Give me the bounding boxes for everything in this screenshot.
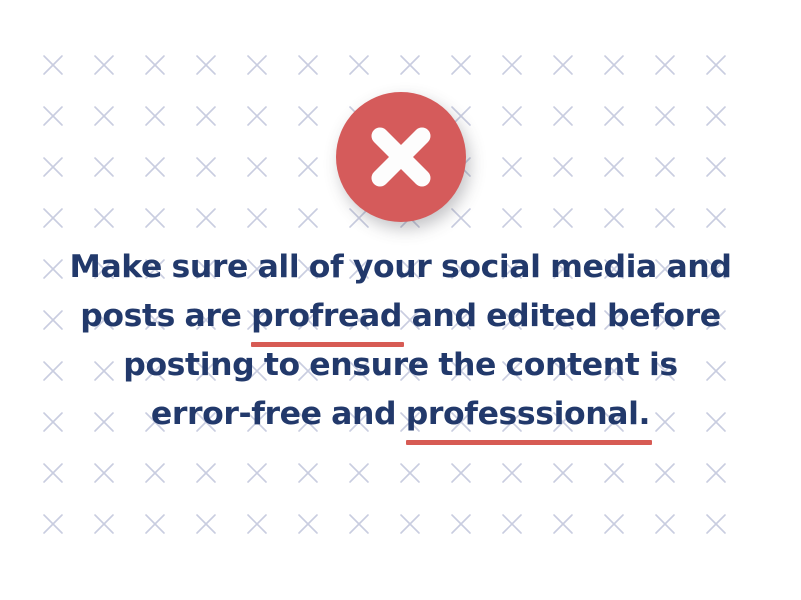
message-line-1: Make sure all of your social media and bbox=[0, 243, 801, 292]
message-line-2: posts are profread and edited before bbox=[0, 292, 801, 341]
message-block: Make sure all of your social media and p… bbox=[0, 243, 801, 439]
message-line-3: posting to ensure the content is bbox=[0, 341, 801, 390]
message-line-4-prefix: error-free and bbox=[151, 396, 406, 432]
slide-canvas: Make sure all of your social media and p… bbox=[0, 0, 801, 600]
typo-professsional: professsional. bbox=[406, 390, 650, 439]
message-line-4: error-free and professsional. bbox=[0, 390, 801, 439]
error-badge-container bbox=[0, 91, 801, 223]
typo-profread: profread bbox=[251, 292, 402, 341]
x-close-icon bbox=[363, 119, 439, 195]
message-line-2-prefix: posts are bbox=[80, 298, 251, 334]
error-badge-circle bbox=[336, 92, 466, 222]
message-line-2-suffix: and edited before bbox=[402, 298, 721, 334]
